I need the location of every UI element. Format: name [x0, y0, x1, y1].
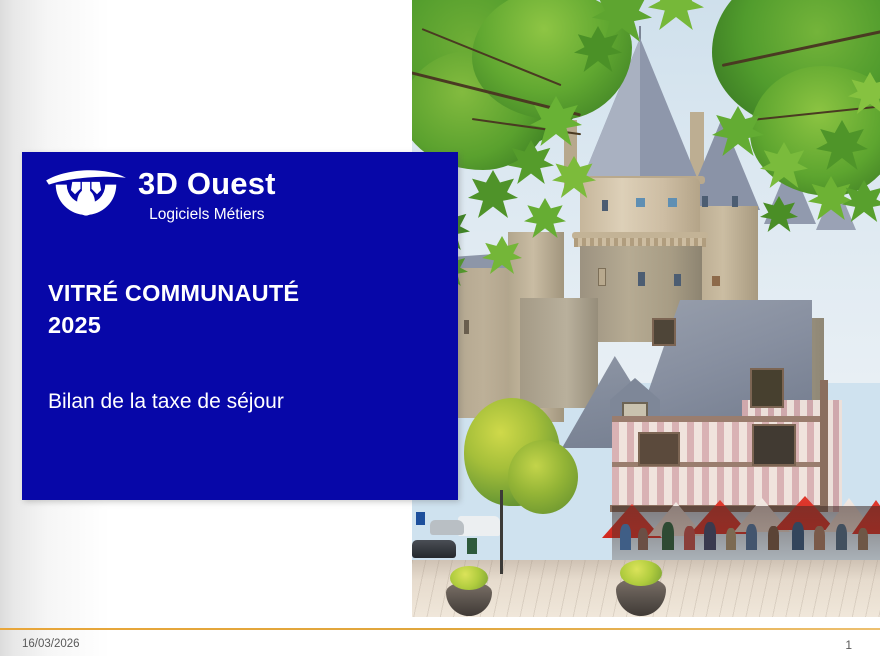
- person: [620, 524, 631, 550]
- person: [814, 526, 825, 550]
- shrub: [508, 440, 578, 514]
- waste-bin: [467, 538, 477, 554]
- house-window: [750, 368, 784, 408]
- timber-beam: [612, 416, 827, 422]
- person: [662, 522, 674, 550]
- brand-tagline: Logiciels Métiers: [138, 206, 276, 224]
- page-title: VITRÉ COMMUNAUTÉ 2025: [48, 278, 448, 342]
- stone-gable: [520, 298, 598, 408]
- brand-logo: 3D Ouest Logiciels Métiers: [44, 162, 276, 230]
- castle-window: [702, 196, 708, 207]
- timber-post: [820, 380, 828, 512]
- brand-name: 3D Ouest: [138, 168, 276, 199]
- 3d-ouest-logo-icon: [44, 164, 128, 230]
- parked-car: [412, 540, 456, 558]
- page-subtitle: Bilan de la taxe de séjour: [48, 388, 448, 415]
- parked-car: [430, 520, 464, 535]
- footer-date: 16/03/2026: [22, 638, 80, 650]
- person: [704, 522, 716, 550]
- castle-window: [598, 268, 606, 286]
- castle-window: [636, 198, 645, 207]
- person: [836, 524, 847, 550]
- castle-window: [712, 276, 720, 286]
- castle-window: [668, 198, 677, 207]
- castle-window: [464, 320, 469, 334]
- person: [858, 528, 868, 550]
- castle-window: [602, 200, 608, 211]
- person: [746, 524, 757, 550]
- castle-photo: [412, 0, 880, 617]
- person: [684, 526, 695, 550]
- house-window: [638, 432, 680, 466]
- person: [768, 526, 779, 550]
- footer-page-number: 1: [845, 638, 852, 652]
- person: [638, 528, 648, 550]
- planter-plant: [620, 560, 662, 586]
- castle-window: [732, 196, 738, 207]
- castle-window: [674, 274, 681, 286]
- footer-divider: [0, 628, 880, 630]
- person: [726, 528, 736, 550]
- parking-sign: [416, 512, 425, 525]
- house-window: [652, 318, 676, 346]
- title-panel: 3D Ouest Logiciels Métiers VITRÉ COMMUNA…: [22, 152, 458, 500]
- house-window: [752, 424, 796, 466]
- lamp-post: [500, 490, 503, 574]
- planter-plant: [450, 566, 488, 590]
- castle-window: [638, 272, 645, 286]
- parked-van: [458, 516, 500, 536]
- person: [792, 522, 804, 550]
- title-slide: 3D Ouest Logiciels Métiers VITRÉ COMMUNA…: [0, 0, 880, 656]
